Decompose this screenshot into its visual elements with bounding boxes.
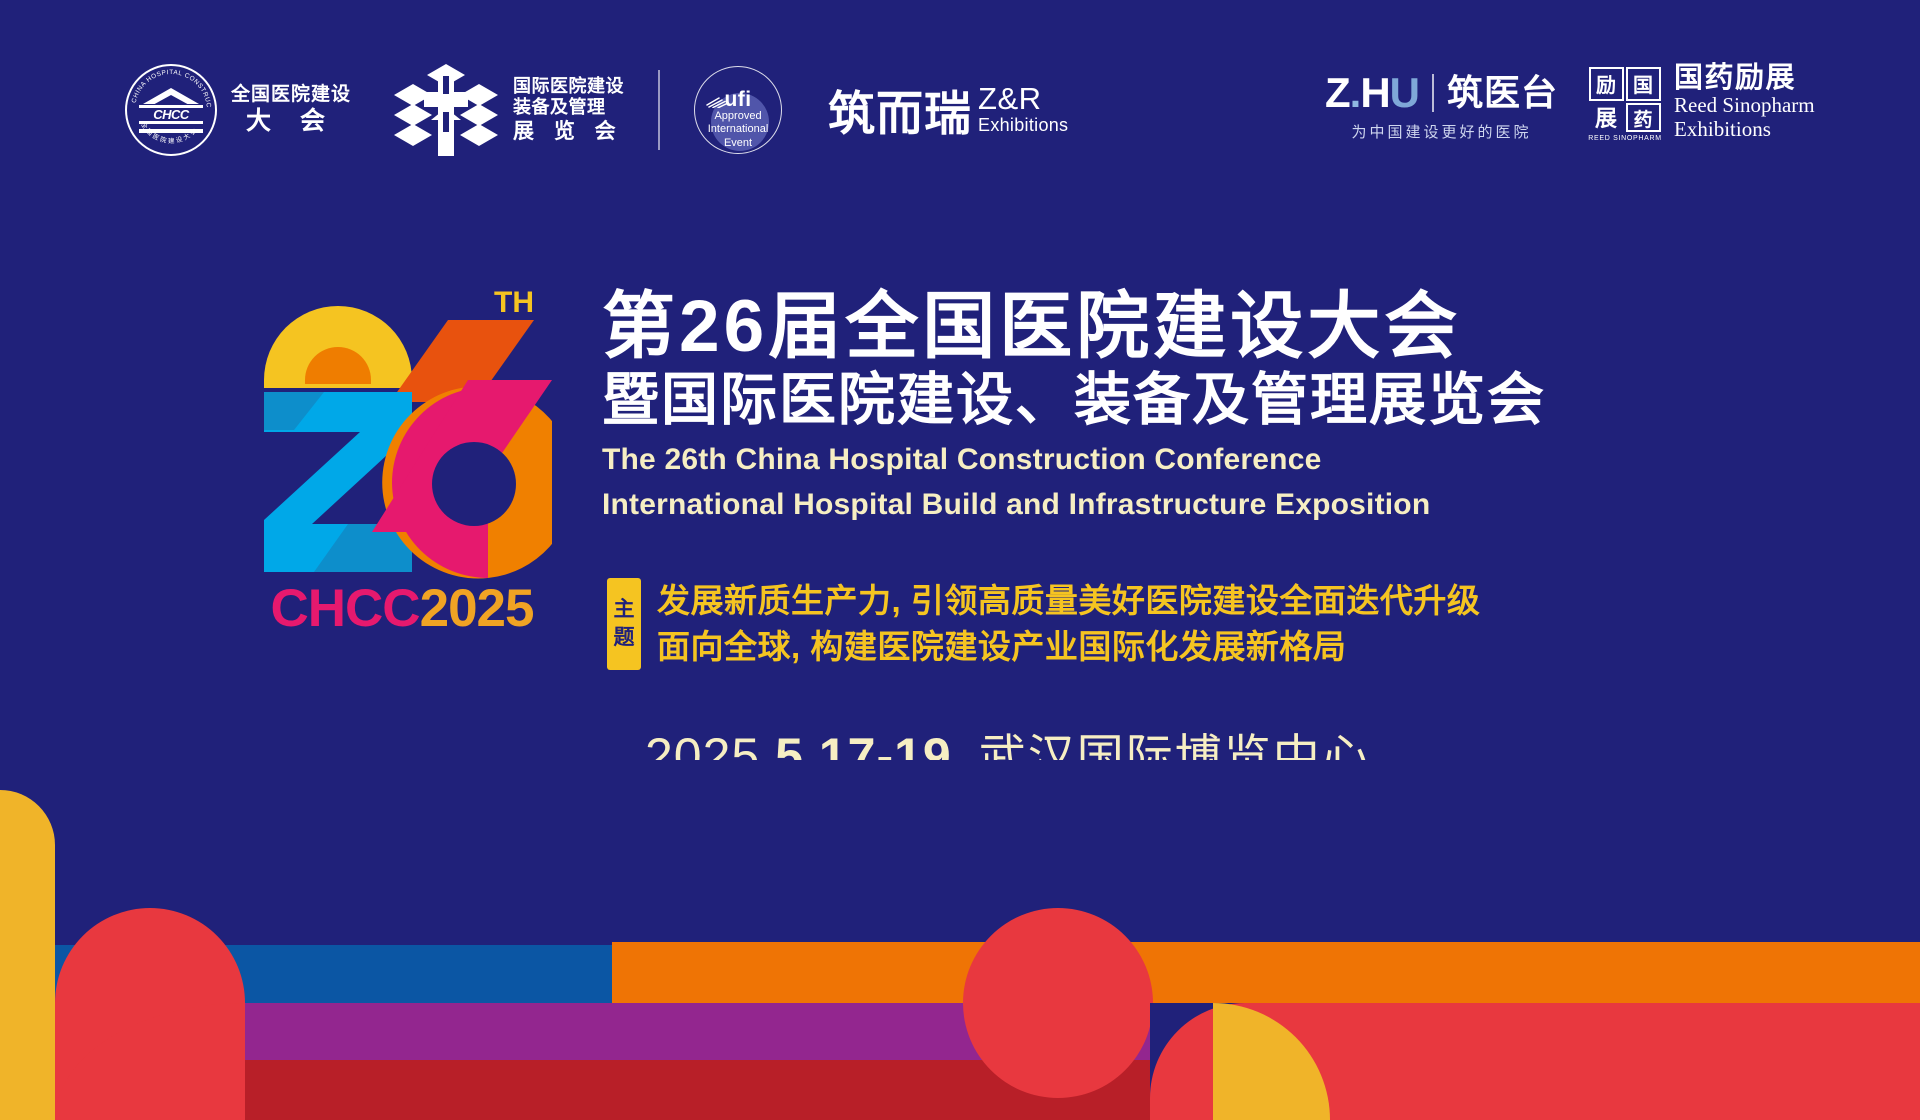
seal-building-glyph: CHCC xyxy=(139,88,203,134)
ufi-line3: Event xyxy=(694,137,782,150)
chcc-26-logo-icon: TH xyxy=(252,262,552,592)
org-name-national: 全国医院建设 大 会 xyxy=(231,83,351,137)
svg-text:国: 国 xyxy=(1633,75,1653,97)
org-name-international: 国际医院建设 装备及管理 展 览 会 xyxy=(513,76,624,144)
zhu-letter-z: Z xyxy=(1325,69,1350,116)
zr-exhibitions-logo: 筑而瑞 Z&R Exhibitions xyxy=(828,83,1068,136)
reed-en-line2: Exhibitions xyxy=(1674,118,1815,142)
wordmark-year: 2025 xyxy=(420,579,534,638)
wordmark-prefix: CHCC xyxy=(270,579,419,638)
zhu-wordmark: Z.HU xyxy=(1325,72,1419,114)
theme-line1: 发展新质生产力, 引领高质量美好医院建设全面迭代升级 xyxy=(657,578,1480,624)
header-right-logos: Z.HU 筑医台 为中国建设更好的医院 励 xyxy=(1325,62,1815,142)
org2-line2: 装备及管理 xyxy=(513,97,624,119)
reed-text-block: 国药励展 Reed Sinopharm Exhibitions xyxy=(1674,62,1815,142)
seal-letters: CHCC xyxy=(139,107,203,122)
zhu-cn-name: 筑医台 xyxy=(1447,75,1558,111)
zhu-tagline: 为中国建设更好的医院 xyxy=(1325,121,1558,142)
zhu-letter-h: H xyxy=(1360,69,1389,116)
reed-sinopharm-seal-icon: 励 国 展 药 REED SINOPHARM xyxy=(1586,64,1664,142)
zhu-letter-dot: . xyxy=(1350,69,1361,116)
ufi-subtext: Approved International Event xyxy=(694,110,782,150)
org1-line1: 全国医院建设 xyxy=(231,83,351,106)
header-left-logos: CHINA HOSPITAL CONSTRUCTION CONFERENCE 全… xyxy=(125,62,1068,158)
reed-sinopharm-logo: 励 国 展 药 REED SINOPHARM 国药励展 Reed Sinopha… xyxy=(1586,62,1815,142)
title-cn-line2: 暨国际医院建设、装备及管理展览会 xyxy=(602,369,1902,433)
svg-text:展: 展 xyxy=(1595,106,1617,131)
theme-badge-char2: 题 xyxy=(614,624,635,652)
ufi-approved-badge-icon: ufi Approved International Event xyxy=(694,66,782,154)
vertical-divider xyxy=(658,70,660,150)
title-block: 第26届全国医院建设大会 暨国际医院建设、装备及管理展览会 The 26th C… xyxy=(602,288,1902,522)
theme-badge-char1: 主 xyxy=(614,596,635,624)
svg-text:励: 励 xyxy=(1596,74,1616,97)
chcc-2025-wordmark: CHCC2025 xyxy=(252,578,552,639)
theme-text: 发展新质生产力, 引领高质量美好医院建设全面迭代升级 面向全球, 构建医院建设产… xyxy=(657,578,1480,670)
hospital-hex-icon xyxy=(391,62,501,158)
banner-canvas: CHINA HOSPITAL CONSTRUCTION CONFERENCE 全… xyxy=(0,0,1920,1120)
chcc-seal-icon: CHINA HOSPITAL CONSTRUCTION CONFERENCE 全… xyxy=(125,64,217,156)
ufi-line1: Approved xyxy=(694,110,782,123)
zr-en-bottom: Exhibitions xyxy=(978,116,1068,135)
svg-text:REED SINOPHARM: REED SINOPHARM xyxy=(1588,135,1662,142)
zhu-divider xyxy=(1432,74,1434,112)
zr-cn-name: 筑而瑞 xyxy=(828,90,972,137)
org2-line3: 展 览 会 xyxy=(513,119,624,144)
org2-line1: 国际医院建设 xyxy=(513,76,624,98)
title-cn-line1: 第26届全国医院建设大会 xyxy=(602,288,1902,365)
zr-en-top: Z&R xyxy=(978,83,1068,116)
header-logo-strip: CHINA HOSPITAL CONSTRUCTION CONFERENCE 全… xyxy=(0,0,1920,190)
zhu-yitai-logo: Z.HU 筑医台 为中国建设更好的医院 xyxy=(1325,72,1558,142)
zhu-letter-u: U xyxy=(1390,69,1419,116)
title-en-line1: The 26th China Hospital Construction Con… xyxy=(602,442,1902,477)
theme-line2: 面向全球, 构建医院建设产业国际化发展新格局 xyxy=(657,624,1480,670)
org1-line2: 大 会 xyxy=(231,106,351,137)
ufi-line2: International xyxy=(694,123,782,136)
reed-en-line1: Reed Sinopharm xyxy=(1674,94,1815,118)
theme-block: 主 题 发展新质生产力, 引领高质量美好医院建设全面迭代升级 面向全球, 构建医… xyxy=(607,578,1480,670)
zr-en-name: Z&R Exhibitions xyxy=(978,83,1068,134)
logo-ordinal-suffix: TH xyxy=(494,286,534,319)
theme-badge: 主 题 xyxy=(607,578,641,670)
title-en-line2: International Hospital Build and Infrast… xyxy=(602,487,1902,522)
svg-text:药: 药 xyxy=(1634,108,1653,131)
color-blocks-decoration xyxy=(0,760,1920,1120)
reed-cn-name: 国药励展 xyxy=(1674,62,1815,94)
ufi-wordmark: ufi xyxy=(694,88,782,112)
